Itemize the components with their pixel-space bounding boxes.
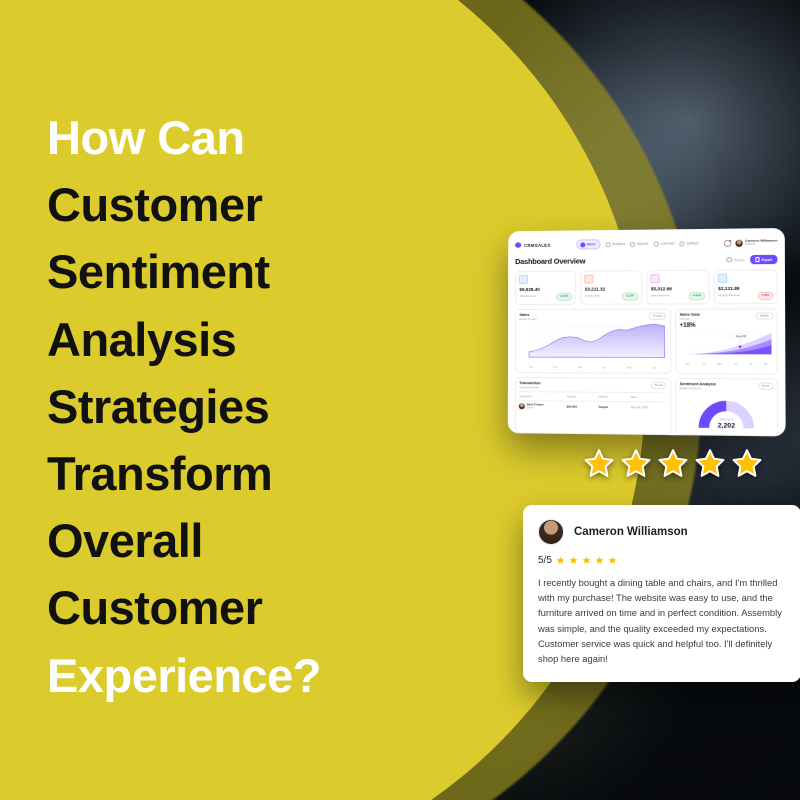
column-method: Method [599, 395, 631, 398]
nav-item-customer[interactable]: Customer [653, 241, 674, 246]
row-amount: $64,000 [567, 405, 599, 409]
range-selector[interactable]: Weekly [756, 312, 773, 320]
metric-label: Sales Revenue [651, 295, 670, 298]
nav-item-reports[interactable]: Reports [630, 241, 648, 246]
nav-menu: Home Analytics Reports Customer Settings [576, 238, 699, 250]
metric-card[interactable]: $5,312.66 Sales Revenue +4.62% [646, 270, 709, 304]
column-transaction: Transaction [519, 395, 566, 398]
avatar [519, 404, 525, 410]
sales-chart-svg [519, 323, 666, 362]
star-icon [556, 556, 565, 565]
see-all-button[interactable]: See all [650, 382, 666, 390]
star-icon [694, 448, 726, 480]
panel-subtitle: Reviews Customer [680, 387, 716, 390]
panel-subtitle: Growth of sales [519, 317, 536, 320]
metric-value: $6,528.40 [519, 287, 571, 292]
x-tick: Mar [578, 367, 582, 369]
reports-icon [630, 241, 635, 246]
metric-label: Invoice Paid [585, 295, 600, 298]
rating-banner [583, 448, 763, 480]
x-tick: Jun [652, 367, 656, 369]
metric-delta: +2.10% [622, 293, 638, 300]
star-icon [582, 556, 591, 565]
export-button[interactable]: Export [750, 255, 778, 265]
column-amount: Amount [567, 395, 599, 398]
goal-x-axis: Mon Tue Wed Thu Fri Sat [680, 364, 774, 366]
nav-label: Home [587, 242, 596, 246]
review-text: I recently bought a dining table and cha… [538, 575, 786, 666]
panel-title: Sales Goal [680, 312, 700, 316]
app-logo[interactable]: CRMSALES [515, 242, 550, 248]
range-selector[interactable]: Month [758, 383, 774, 391]
sales-area-path [529, 324, 664, 357]
metric-card[interactable]: $6,528.40 Total Earnings +3.15% [515, 271, 576, 305]
review-score: 5/5 [538, 555, 552, 566]
nav-label: Customer [660, 241, 674, 245]
star-icon [569, 556, 578, 565]
star-icon [657, 448, 689, 480]
review-header: Cameron Williamson [538, 519, 786, 545]
user-role: Marketer [745, 243, 777, 247]
headline-line: Strategies [47, 373, 377, 440]
star-icon [595, 556, 604, 565]
goal-percentage: +18% [680, 322, 774, 328]
header-tools: Search Export [726, 255, 777, 265]
chart-icon [718, 274, 727, 283]
dashboard-mockup: CRMSALES Home Analytics Reports Custome [508, 228, 786, 436]
nav-item-home[interactable]: Home [576, 239, 601, 249]
star-icon [583, 448, 615, 480]
nav-item-analytics[interactable]: Analytics [605, 241, 625, 246]
sales-area-chart: Jan Feb Mar Apr May Jun [519, 323, 666, 369]
dashboard-header: Dashboard Overview Search Export [515, 255, 777, 266]
download-icon [755, 257, 760, 262]
home-icon [580, 242, 585, 247]
sales-x-axis: Jan Feb Mar Apr May Jun [519, 367, 666, 370]
table-row[interactable]: Jane Cooper @Jane $64,000 Paypal May 09,… [519, 401, 666, 414]
headline: How Can Customer Sentiment Analysis Stra… [47, 104, 377, 709]
bag-icon [651, 274, 660, 283]
charts-row: Sales Growth of sales 6 month [515, 308, 778, 374]
metric-delta: +3.15% [556, 293, 572, 300]
page-title: Dashboard Overview [515, 257, 585, 267]
goal-tooltip-label: Sep,08 [736, 335, 747, 339]
logo-mark-icon [515, 242, 521, 248]
headline-line: Sentiment [47, 238, 377, 305]
analytics-icon [605, 242, 610, 247]
headline-line: Analysis [47, 306, 377, 373]
headline-line: Customer [47, 574, 377, 641]
metric-value: $5,312.66 [651, 286, 705, 291]
review-card: Cameron Williamson 5/5 I recently bought… [523, 505, 800, 682]
x-tick: Tue [701, 364, 705, 366]
metric-card[interactable]: $2,121.89 Monthly Revenue -1.08% [714, 269, 778, 304]
panel-title: Sales [519, 313, 536, 317]
star-icon [731, 448, 763, 480]
reviewer-name: Cameron Williamson [574, 526, 688, 538]
x-tick: Sat [764, 364, 768, 366]
sentiment-panel: Sentiment Analysis Reviews Customer Mont… [675, 378, 778, 436]
goal-chart-svg: Sep,08 [680, 331, 774, 358]
dashboard-navbar: CRMSALES Home Analytics Reports Custome [515, 234, 777, 253]
row-method: Paypal [599, 405, 631, 409]
panel-subtitle: Summary [680, 317, 700, 320]
headline-line: Experience? [47, 642, 377, 709]
x-tick: Thu [733, 364, 737, 366]
nav-label: Analytics [612, 242, 625, 246]
customer-icon [653, 241, 658, 246]
nav-item-settings[interactable]: Settings [680, 241, 699, 246]
bell-icon[interactable] [724, 239, 731, 246]
x-tick: Fri [749, 364, 752, 366]
avatar [736, 239, 743, 246]
metric-delta: +4.62% [689, 292, 705, 299]
headline-line: Customer [47, 171, 377, 238]
sentiment-gauge: Total Count 2,202 [680, 392, 774, 432]
range-selector[interactable]: 6 month [649, 313, 667, 321]
x-tick: Apr [602, 367, 606, 369]
export-label: Export [762, 258, 773, 262]
search-input[interactable]: Search [726, 257, 744, 263]
goal-area-chart: Sep,08 Mon Tue Wed Thu Fri Sat [680, 331, 774, 366]
column-date: Date [631, 396, 667, 399]
star-icon [608, 556, 617, 565]
row-handle: @Jane [527, 407, 544, 410]
x-tick: Mon [685, 364, 690, 366]
metric-value: $3,211.32 [585, 286, 638, 291]
panel-title: Transaction [519, 381, 540, 385]
transaction-panel: Transaction Latest transaction See all T… [515, 377, 671, 435]
search-placeholder: Search [734, 258, 745, 262]
metric-cards: $6,528.40 Total Earnings +3.15% $3,211.3… [515, 269, 778, 304]
metric-label: Total Earnings [519, 295, 536, 298]
metric-delta: -1.08% [757, 292, 773, 299]
goal-marker-dot [739, 346, 742, 348]
notification-badge [729, 239, 732, 241]
sales-goal-panel: Sales Goal Summary Weekly +18% [675, 308, 778, 374]
review-rating: 5/5 [538, 555, 786, 566]
search-icon [726, 257, 732, 263]
avatar [538, 519, 564, 545]
bottom-row: Transaction Latest transaction See all T… [515, 377, 778, 436]
x-tick: May [627, 367, 631, 369]
poster-canvas: How Can Customer Sentiment Analysis Stra… [0, 0, 800, 800]
metric-card[interactable]: $3,211.32 Invoice Paid +2.10% [580, 270, 642, 304]
headline-line: Overall [47, 507, 377, 574]
x-tick: Jan [529, 367, 533, 369]
wallet-icon [519, 275, 527, 283]
logo-text: CRMSALES [524, 242, 551, 247]
user-profile[interactable]: Cameron Williamson Marketer [736, 239, 778, 247]
headline-line: How Can [47, 104, 377, 171]
x-tick: Feb [553, 367, 557, 369]
x-tick: Wed [717, 364, 722, 366]
panel-title: Sentiment Analysis [680, 382, 716, 386]
metric-value: $2,121.89 [718, 286, 773, 291]
settings-icon [680, 241, 685, 246]
gauge-value-text: 2,202 [680, 422, 774, 430]
sales-chart-panel: Sales Growth of sales 6 month [515, 308, 671, 373]
invoice-icon [585, 275, 593, 283]
navbar-right: Cameron Williamson Marketer [724, 239, 777, 247]
nav-label: Settings [686, 241, 698, 245]
headline-line: Transform [47, 440, 377, 507]
row-date: May 09, 2023 [631, 406, 667, 410]
panel-subtitle: Latest transaction [519, 386, 540, 389]
nav-label: Reports [637, 242, 648, 246]
star-icon [620, 448, 652, 480]
metric-label: Monthly Revenue [718, 294, 740, 297]
